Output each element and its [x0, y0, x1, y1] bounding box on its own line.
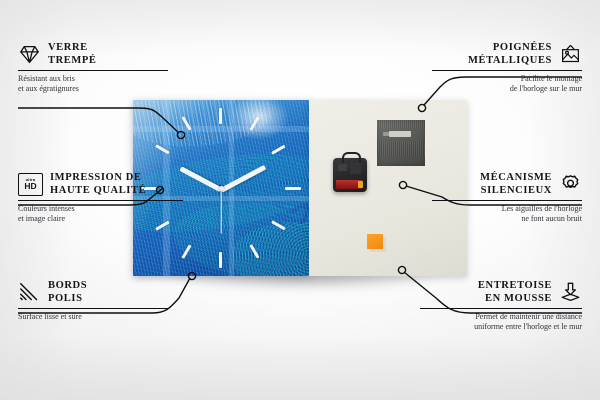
arrow-into-layers-icon [559, 282, 582, 303]
callout-title-line1: IMPRESSION DE [50, 171, 146, 184]
callout-poignees-metalliques: POIGNÉES MÉTALLIQUES Facilite le montage… [432, 41, 582, 94]
battery [336, 180, 362, 189]
callout-title-line1: BORDS [48, 279, 87, 292]
gear-icon [559, 174, 582, 195]
ultra-hd-icon: ultra HD [18, 173, 43, 196]
clock-second-hand [220, 190, 221, 234]
polished-edge-icon [18, 282, 41, 303]
callout-desc-line2: uniforme entre l'horloge et le mur [420, 322, 582, 332]
callout-title-line1: POIGNÉES [468, 41, 552, 54]
callout-rule [432, 70, 582, 71]
callout-rule [18, 308, 168, 309]
callout-title-line2: MÉTALLIQUES [468, 54, 552, 67]
callout-header: MÉCANISME SILENCIEUX [432, 171, 582, 197]
callout-desc-line2: de l'horloge sur le mur [432, 84, 582, 94]
callout-title-line2: POLIS [48, 292, 87, 305]
callout-title-line1: MÉCANISME [480, 171, 552, 184]
clock-center-hub [219, 186, 224, 191]
callout-desc-line1: Permet de maintenir une distance [420, 312, 582, 322]
callout-header: POIGNÉES MÉTALLIQUES [432, 41, 582, 67]
callout-entretoise-en-mousse: ENTRETOISE EN MOUSSE Permet de maintenir… [420, 279, 582, 332]
callout-header: ENTRETOISE EN MOUSSE [420, 279, 582, 305]
callout-mecanisme-silencieux: MÉCANISME SILENCIEUX Les aiguilles de l'… [432, 171, 582, 224]
diamond-icon [18, 44, 41, 65]
clock-tick [285, 187, 301, 190]
clock-tick [219, 252, 222, 268]
callout-header: BORDS POLIS [18, 279, 168, 305]
product-image [133, 100, 467, 284]
callout-desc-line2: ne font aucun bruit [432, 214, 582, 224]
foam-spacer [367, 234, 383, 249]
callout-desc-line1: Couleurs intenses [18, 204, 183, 214]
callout-rule [432, 200, 582, 201]
infographic-canvas: VERRE TREMPÉ Résistant aux bris et aux é… [0, 0, 600, 400]
clock-mechanism [333, 158, 367, 192]
callout-title-line2: EN MOUSSE [478, 292, 552, 305]
callout-desc-line2: et image claire [18, 214, 183, 224]
callout-title-line2: HAUTE QUALITÉ [50, 184, 146, 197]
callout-rule [18, 70, 168, 71]
hanging-frame-icon [559, 44, 582, 65]
callout-header: ultra HD IMPRESSION DE HAUTE QUALITÉ [18, 171, 183, 197]
metal-hanger-plate [377, 120, 425, 166]
clock-tick [219, 108, 222, 124]
mechanism-hanger-loop [342, 152, 361, 163]
callout-desc-line1: Surface lisse et sûre [18, 312, 168, 322]
callout-desc-line1: Résistant aux bris [18, 74, 168, 84]
callout-rule [18, 200, 183, 201]
callout-desc-line1: Facilite le montage [432, 74, 582, 84]
ultra-hd-icon-main: HD [24, 182, 36, 191]
callout-impression-haute-qualite: ultra HD IMPRESSION DE HAUTE QUALITÉ Cou… [18, 171, 183, 224]
callout-header: VERRE TREMPÉ [18, 41, 168, 67]
callout-title-line1: VERRE [48, 41, 97, 54]
callout-desc-line1: Les aiguilles de l'horloge [432, 204, 582, 214]
callout-title-line2: SILENCIEUX [480, 184, 552, 197]
callout-bords-polis: BORDS POLIS Surface lisse et sûre [18, 279, 168, 322]
callout-title-line1: ENTRETOISE [478, 279, 552, 292]
callout-desc-line2: et aux égratignures [18, 84, 168, 94]
callout-title-line2: TREMPÉ [48, 54, 97, 67]
callout-verre-trempe: VERRE TREMPÉ Résistant aux bris et aux é… [18, 41, 168, 94]
callout-rule [420, 308, 582, 309]
